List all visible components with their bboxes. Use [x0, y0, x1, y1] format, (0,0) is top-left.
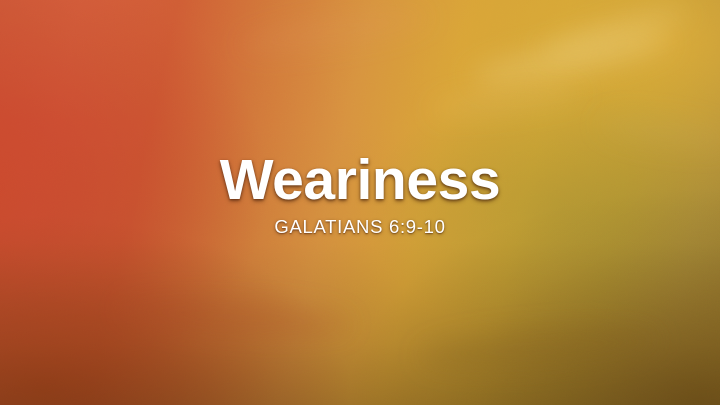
cloud-wisp: [239, 3, 431, 58]
cloud-wisp: [431, 83, 582, 119]
presentation-slide: Weariness GALATIANS 6:9-10: [0, 0, 720, 405]
cloud-wisp: [419, 322, 661, 375]
cloud-wisp: [599, 111, 720, 153]
cloud-wisp: [540, 2, 690, 63]
slide-scripture-reference: GALATIANS 6:9-10: [0, 218, 720, 237]
slide-text-block: Weariness GALATIANS 6:9-10: [0, 152, 720, 237]
cloud-wisp: [469, 25, 671, 93]
cloud-wisp: [119, 292, 351, 342]
slide-title: Weariness: [0, 152, 720, 209]
